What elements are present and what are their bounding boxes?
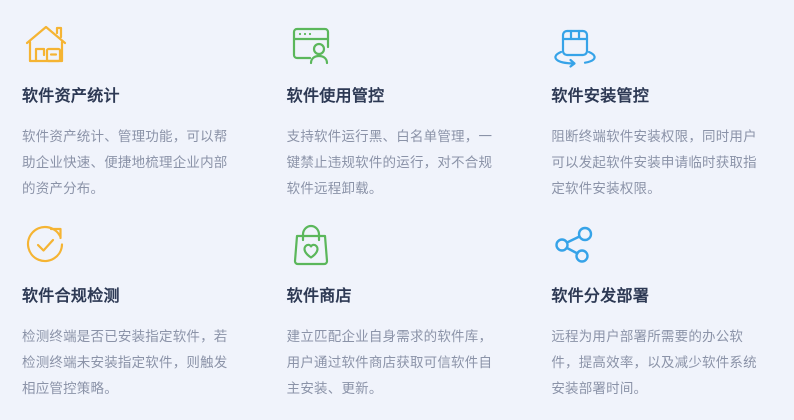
feature-description: 远程为用户部署所需要的办公软件，提高效率，以及减少软件系统安装部署时间。 — [551, 324, 770, 402]
feature-title: 软件商店 — [287, 286, 494, 308]
shopping-bag-heart-icon — [287, 220, 335, 270]
share-nodes-icon — [551, 220, 599, 270]
feature-title: 软件资产统计 — [22, 86, 229, 108]
feature-card-software-usage-control[interactable]: 软件使用管控 支持软件运行黑、白名单管理，一键禁止违规软件的运行，对不合规软件远… — [265, 20, 530, 220]
check-circle-arrow-icon — [22, 220, 70, 270]
feature-title: 软件合规检测 — [22, 286, 229, 308]
feature-description: 软件资产统计、管理功能，可以帮助企业快速、便捷地梳理企业内部的资产分布。 — [22, 124, 229, 202]
package-sync-icon — [551, 20, 599, 70]
feature-card-software-store[interactable]: 软件商店 建立匹配企业自身需求的软件库，用户通过软件商店获取可信软件自主安装、更… — [265, 220, 530, 420]
feature-description: 检测终端是否已安装指定软件，若检测终端未安装指定软件，则触发相应管控策略。 — [22, 324, 229, 402]
feature-card-software-install-control[interactable]: 软件安装管控 阻断终端软件安装权限，同时用户可以发起软件安装申请临时获取指定软件… — [529, 20, 794, 220]
feature-description: 建立匹配企业自身需求的软件库，用户通过软件商店获取可信软件自主安装、更新。 — [287, 324, 494, 402]
feature-title: 软件安装管控 — [551, 86, 770, 108]
feature-title: 软件分发部署 — [551, 286, 770, 308]
features-grid: 软件资产统计 软件资产统计、管理功能，可以帮助企业快速、便捷地梳理企业内部的资产… — [0, 0, 794, 420]
feature-description: 支持软件运行黑、白名单管理，一键禁止违规软件的运行，对不合规软件远程卸载。 — [287, 124, 494, 202]
feature-card-software-asset-statistics[interactable]: 软件资产统计 软件资产统计、管理功能，可以帮助企业快速、便捷地梳理企业内部的资产… — [0, 20, 265, 220]
feature-card-software-compliance-check[interactable]: 软件合规检测 检测终端是否已安装指定软件，若检测终端未安装指定软件，则触发相应管… — [0, 220, 265, 420]
feature-card-software-distribution-deployment[interactable]: 软件分发部署 远程为用户部署所需要的办公软件，提高效率，以及减少软件系统安装部署… — [529, 220, 794, 420]
browser-user-icon — [287, 20, 335, 70]
house-asset-icon — [22, 20, 70, 70]
feature-title: 软件使用管控 — [287, 86, 494, 108]
feature-description: 阻断终端软件安装权限，同时用户可以发起软件安装申请临时获取指定软件安装权限。 — [551, 124, 770, 202]
